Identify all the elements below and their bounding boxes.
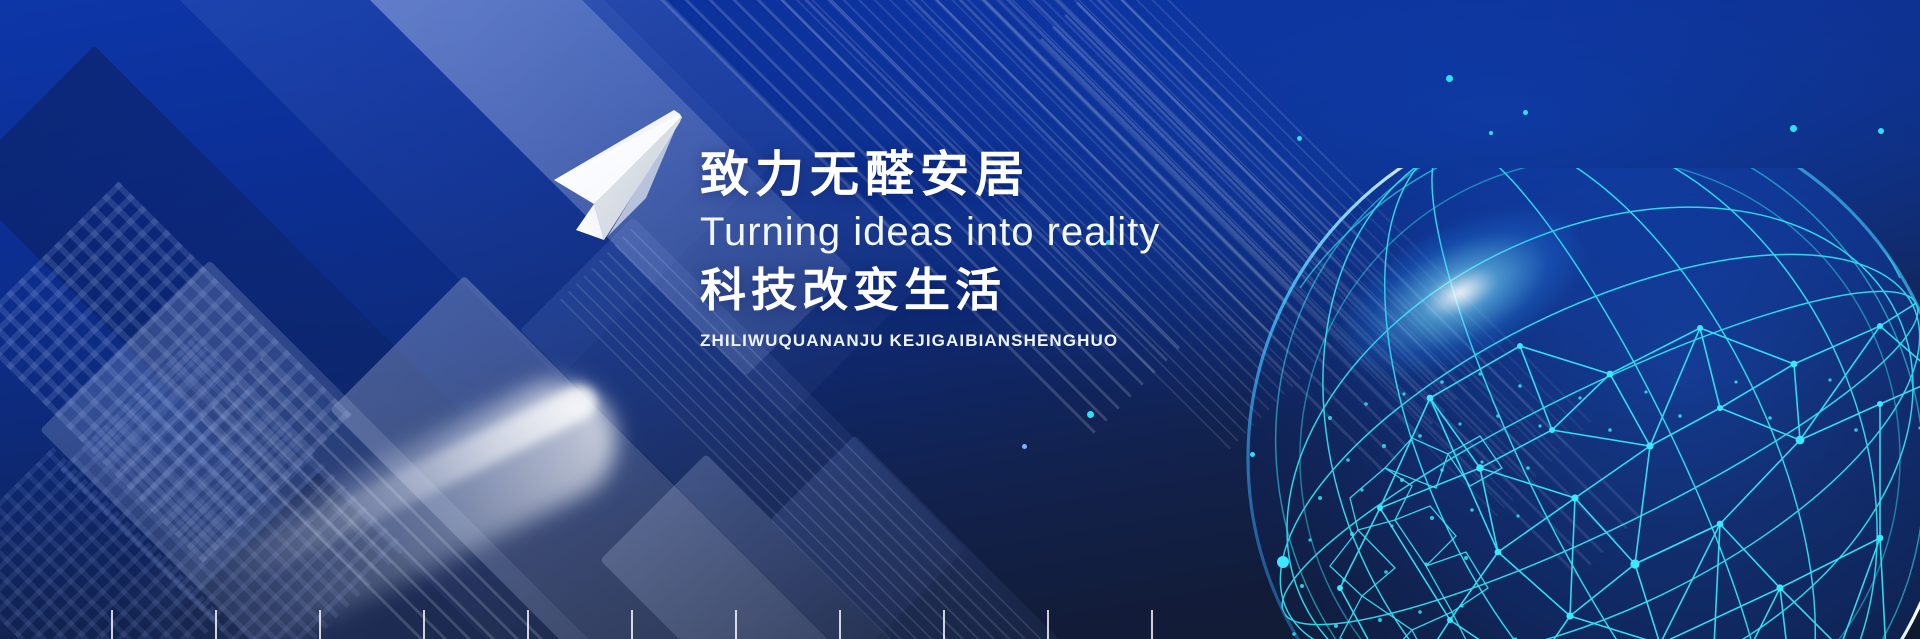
tick-mark [423,610,425,639]
headline-english: Turning ideas into reality [700,209,1340,256]
headline-chinese-secondary: 科技改变生活 [700,264,1340,316]
tick-mark [319,610,321,639]
tick-mark [111,610,113,639]
hero-banner: 致力无醛安居 Turning ideas into reality 科技改变生活… [0,0,1920,639]
tick-mark [943,610,945,639]
tick-mark [1151,610,1153,639]
tick-mark [215,610,217,639]
headline-block: 致力无醛安居 Turning ideas into reality 科技改变生活… [700,148,1340,351]
headline-pinyin: ZHILIWUQUANANJU KEJIGAIBIANSHENGHUO [700,331,1340,351]
tick-mark [527,610,529,639]
tick-mark [1047,610,1049,639]
tick-mark [839,610,841,639]
headline-chinese-primary: 致力无醛安居 [700,148,1340,203]
tick-mark [631,610,633,639]
tick-mark [735,610,737,639]
paper-plane-icon [546,108,682,250]
bottom-tick-marks [0,599,1920,639]
